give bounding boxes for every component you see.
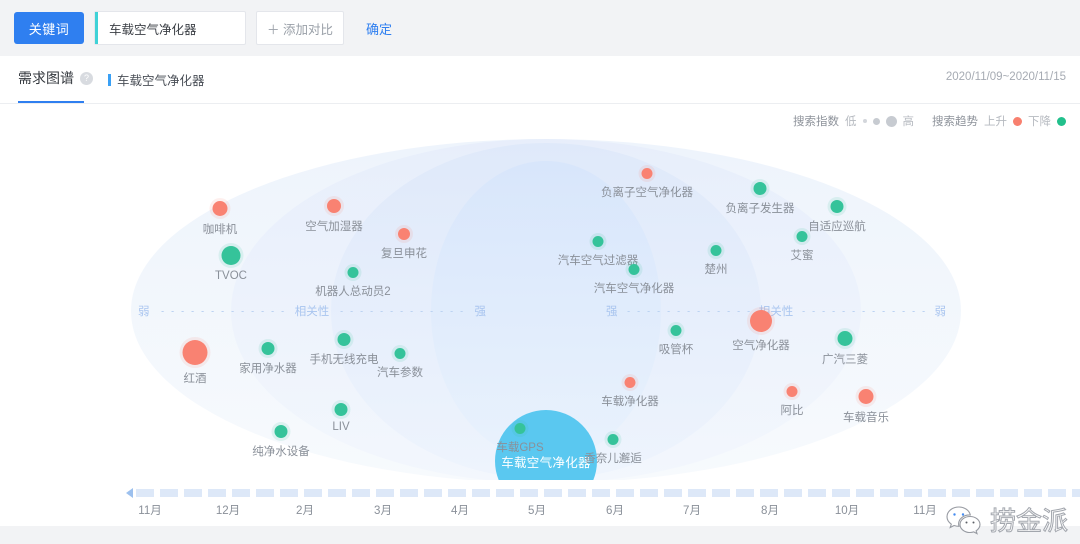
- keyword-node-label: 手机无线充电: [310, 351, 379, 367]
- legend-index-low: 低: [845, 113, 857, 129]
- keyword-node-bubble[interactable]: [787, 386, 798, 397]
- timeline[interactable]: 11月12月2月3月4月5月6月7月8月10月11月: [0, 480, 1080, 524]
- legend-trend-down-label: 下降: [1028, 113, 1051, 129]
- keyword-node-bubble[interactable]: [642, 168, 653, 179]
- keyword-node-label: 车载音乐: [843, 409, 889, 425]
- timeline-prev-arrow-icon[interactable]: [126, 488, 133, 498]
- legend-size-dot-small-icon: [863, 119, 867, 123]
- timeline-tick-label[interactable]: 8月: [761, 502, 779, 518]
- keyword-node-bubble[interactable]: [754, 182, 767, 195]
- add-compare-button[interactable]: ＋ 添加对比: [256, 11, 344, 45]
- keyword-node-label: 车载净化器: [601, 393, 659, 409]
- axis-left-strong: 强: [475, 303, 487, 319]
- keyword-node-bubble[interactable]: [625, 377, 636, 388]
- axis-left-title: 相关性: [295, 303, 330, 319]
- legend-search-index: 搜索指数 低 高: [793, 113, 914, 129]
- keyword-node-label: 车载GPS: [496, 439, 543, 455]
- keyword-node-label: 楚州: [705, 261, 728, 277]
- keyword-node-bubble[interactable]: [398, 228, 410, 240]
- top-search-bar: 关键词 车载空气净化器 ＋ 添加对比 确定: [0, 0, 1080, 56]
- keyword-node-label: 汽车参数: [377, 364, 423, 380]
- keyword-chip[interactable]: 车载空气净化器: [108, 70, 205, 89]
- keyword-node-label: 香奈儿邂逅: [584, 450, 642, 466]
- legend-size-dot-large-icon: [886, 116, 897, 127]
- keyword-node-bubble[interactable]: [338, 333, 351, 346]
- keyword-node-label: 负离子发生器: [726, 200, 795, 216]
- legend-trend-title: 搜索趋势: [932, 113, 978, 129]
- keyword-node-bubble[interactable]: [629, 264, 640, 275]
- timeline-tick-label[interactable]: 11月: [138, 502, 161, 518]
- timeline-tick-label[interactable]: 6月: [606, 502, 624, 518]
- keyword-node-bubble[interactable]: [335, 403, 348, 416]
- keyword-node-label: 家用净水器: [239, 360, 297, 376]
- keyword-node-label: TVOC: [215, 270, 247, 282]
- legend-trend-up-dot-icon: [1013, 117, 1022, 126]
- axis-left-dots-b: [336, 311, 467, 312]
- axis-right-strong: 强: [606, 303, 618, 319]
- keyword-node-label: 红酒: [184, 370, 207, 386]
- keyword-node-label: 汽车空气过滤器: [558, 252, 639, 268]
- keyword-chip-marker: [108, 74, 111, 86]
- relevance-axis-right: 强 相关性 弱: [606, 303, 946, 319]
- keyword-node-label: 机器人总动员2: [315, 283, 390, 299]
- keyword-node-label: 空气净化器: [732, 337, 790, 353]
- keyword-node-label: 纯净水设备: [252, 443, 310, 459]
- keyword-node-bubble[interactable]: [183, 340, 208, 365]
- keyword-node-bubble[interactable]: [327, 199, 341, 213]
- chart-legend: 搜索指数 低 高 搜索趋势 上升 下降: [793, 113, 1066, 129]
- keyword-node-bubble[interactable]: [275, 425, 288, 438]
- timeline-labels: 11月12月2月3月4月5月6月7月8月10月11月: [0, 502, 1080, 522]
- keyword-button[interactable]: 关键词: [14, 12, 84, 44]
- keyword-node-bubble[interactable]: [593, 236, 604, 247]
- keyword-node-label: 负离子空气净化器: [601, 184, 693, 200]
- keyword-node-bubble[interactable]: [750, 310, 772, 332]
- confirm-button[interactable]: 确定: [366, 19, 392, 38]
- legend-index-high: 高: [903, 113, 915, 129]
- keyword-node-bubble[interactable]: [608, 434, 619, 445]
- keyword-node-bubble[interactable]: [711, 245, 722, 256]
- keyword-chip-label: 车载空气净化器: [117, 70, 205, 89]
- timeline-tick-label[interactable]: 7月: [683, 502, 701, 518]
- keyword-node-bubble[interactable]: [797, 231, 808, 242]
- keyword-node-bubble[interactable]: [831, 200, 844, 213]
- keyword-node-label: LIV: [332, 421, 349, 433]
- keyword-node-bubble[interactable]: [262, 342, 275, 355]
- keyword-node-bubble[interactable]: [222, 246, 241, 265]
- help-icon[interactable]: ?: [80, 72, 93, 85]
- axis-left-dots-a: [157, 311, 288, 312]
- axis-right-dots-b: [800, 311, 927, 312]
- tab-demand-graph[interactable]: 需求图谱 ?: [18, 68, 93, 88]
- axis-left-weak: 弱: [138, 303, 150, 319]
- keyword-node-bubble[interactable]: [395, 348, 406, 359]
- legend-search-trend: 搜索趋势 上升 下降: [932, 113, 1066, 129]
- keyword-node-label: 复旦申花: [381, 245, 427, 261]
- keyword-node-label: 吸管杯: [659, 341, 694, 357]
- keyword-node-bubble[interactable]: [671, 325, 682, 336]
- timeline-tick-label[interactable]: 3月: [374, 502, 392, 518]
- tab-active-underline: [18, 101, 84, 103]
- relevance-axis-left: 弱 相关性 强: [138, 303, 486, 319]
- keyword-node-bubble[interactable]: [213, 201, 228, 216]
- legend-size-dot-medium-icon: [873, 118, 880, 125]
- keyword-node-label: 汽车空气净化器: [594, 280, 675, 296]
- keyword-node-bubble[interactable]: [838, 331, 853, 346]
- tab-demand-graph-label: 需求图谱: [18, 68, 74, 88]
- timeline-tick-label[interactable]: 2月: [296, 502, 314, 518]
- demand-graph-canvas[interactable]: 弱 相关性 强 强 相关性 弱 车载空气净化器 咖啡机TVOC空气加湿器复旦申花…: [0, 135, 1080, 480]
- keyword-node-label: 咖啡机: [203, 221, 238, 237]
- keyword-node-label: 广汽三菱: [822, 351, 868, 367]
- axis-right-weak: 弱: [935, 303, 947, 319]
- timeline-track[interactable]: [136, 489, 1080, 497]
- timeline-tick-label[interactable]: 4月: [451, 502, 469, 518]
- legend-trend-down-dot-icon: [1057, 117, 1066, 126]
- timeline-tick-label[interactable]: 10月: [835, 502, 859, 518]
- section-header: 需求图谱 ? 车载空气净化器 2020/11/09~2020/11/15: [0, 56, 1080, 104]
- date-range-label[interactable]: 2020/11/09~2020/11/15: [946, 71, 1066, 83]
- keyword-node-bubble[interactable]: [515, 423, 526, 434]
- keyword-node-label: 艾蜜: [791, 247, 814, 263]
- keyword-node-bubble[interactable]: [859, 389, 874, 404]
- keyword-node-bubble[interactable]: [348, 267, 359, 278]
- axis-right-dots-a: [625, 311, 752, 312]
- timeline-tick-label[interactable]: 11月: [913, 502, 936, 518]
- timeline-tick-label[interactable]: 12月: [216, 502, 240, 518]
- keyword-node-label: 自适应巡航: [808, 218, 866, 234]
- keyword-input[interactable]: 车载空气净化器: [94, 11, 246, 45]
- keyword-node-label: 空气加湿器: [305, 218, 363, 234]
- timeline-tick-label[interactable]: 5月: [528, 502, 546, 518]
- legend-trend-up-label: 上升: [984, 113, 1007, 129]
- legend-index-title: 搜索指数: [793, 113, 839, 129]
- keyword-node-label: 阿比: [781, 402, 804, 418]
- footer-strip: [0, 526, 1080, 544]
